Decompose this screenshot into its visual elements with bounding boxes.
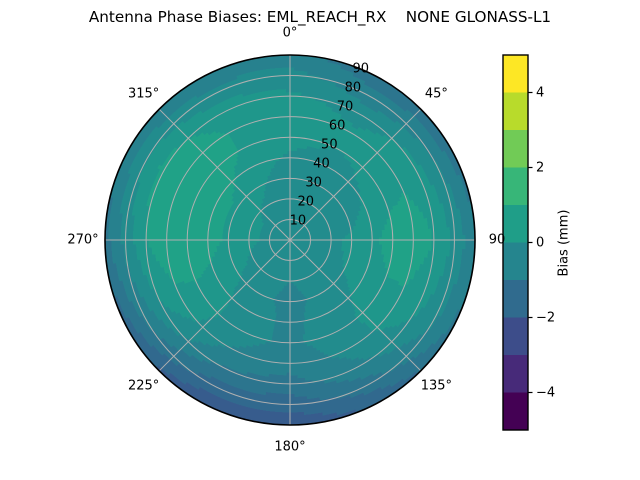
angular-tick-label-180: 180° (274, 440, 305, 455)
colorbar-band (503, 168, 528, 206)
colorbar-tick-label-0: 0 (536, 235, 544, 250)
radial-tick-label-30: 30 (305, 176, 322, 191)
polar-grid-layer (105, 55, 475, 425)
angular-tick-label-135: 135° (421, 379, 452, 394)
angular-tick-label-90: 90 (489, 233, 506, 248)
colorbar-band (503, 55, 528, 93)
colorbar-band (503, 355, 528, 393)
figure-canvas: Antenna Phase Biases: EML_REACH_RX NONE … (0, 0, 640, 480)
radial-tick-label-70: 70 (337, 100, 354, 115)
angular-tick-label-0: 0° (283, 26, 298, 41)
colorbar-tick-label-4: 4 (536, 85, 544, 100)
colorbar-band (503, 318, 528, 356)
radial-tick-label-40: 40 (313, 157, 330, 172)
angular-tick-label-225: 225° (128, 379, 159, 394)
colorbar-band (503, 393, 528, 431)
colorbar[interactable] (503, 55, 533, 430)
colorbar-tick-label--2: −2 (536, 310, 555, 325)
radial-tick-label-10: 10 (290, 214, 307, 229)
colorbar-band (503, 205, 528, 243)
colorbar-tick-label--4: −4 (536, 385, 555, 400)
angular-tick-label-45: 45° (425, 86, 448, 101)
radial-tick-label-90: 90 (353, 62, 370, 77)
radial-tick-label-80: 80 (345, 81, 362, 96)
radial-tick-label-50: 50 (321, 138, 338, 153)
radial-tick-label-20: 20 (297, 195, 314, 210)
colorbar-band (503, 280, 528, 318)
angular-tick-label-315: 315° (128, 86, 159, 101)
colorbar-band (503, 130, 528, 168)
colorbar-tick-label-2: 2 (536, 160, 544, 175)
angular-tick-label-270: 270° (67, 233, 98, 248)
radial-tick-label-60: 60 (329, 119, 346, 134)
colorbar-axis-label: Bias (mm) (557, 209, 572, 276)
colorbar-band (503, 93, 528, 131)
colorbar-band (503, 243, 528, 281)
